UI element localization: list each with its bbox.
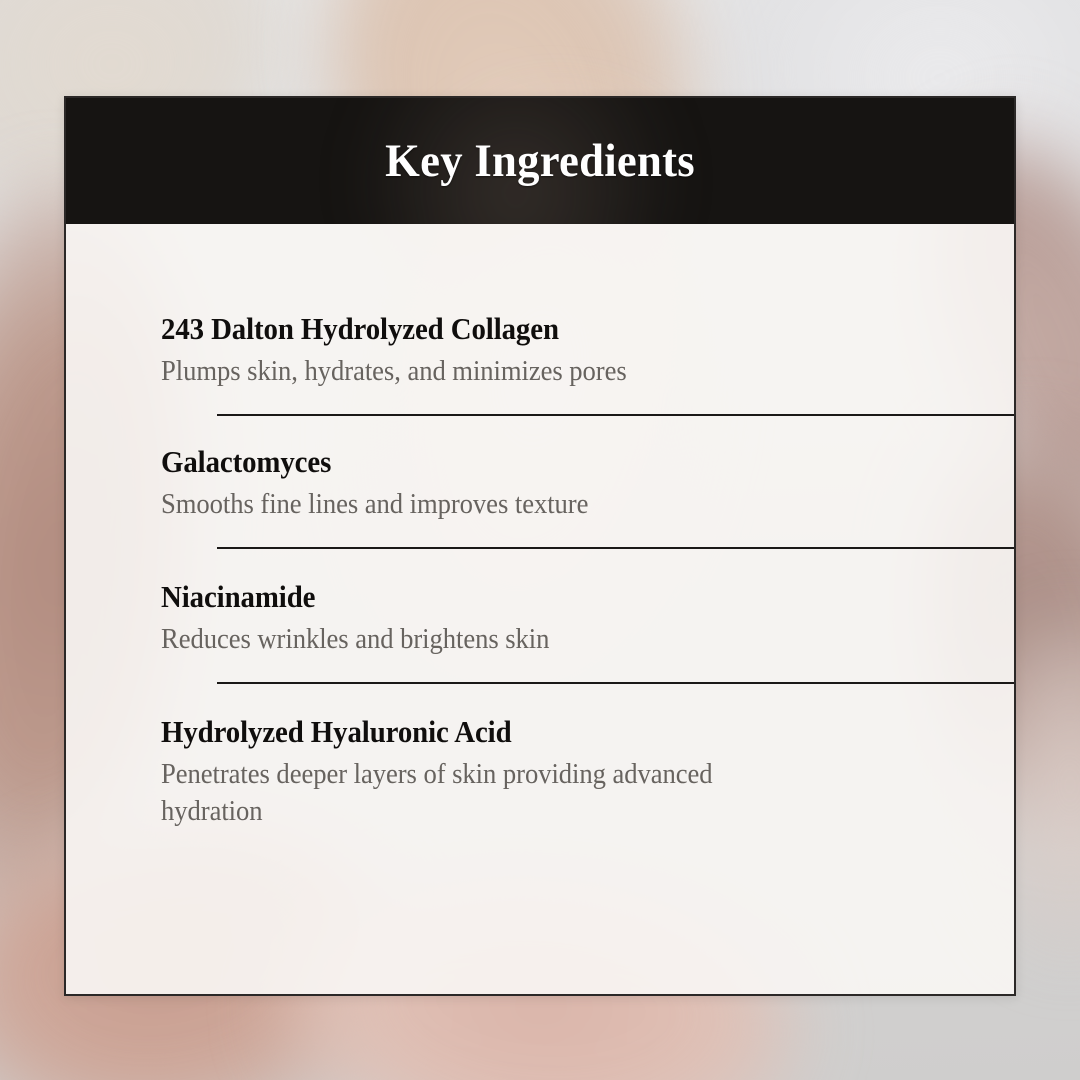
ingredient-list: 243 Dalton Hydrolyzed Collagen Plumps sk… [66,224,1014,830]
ingredient-description: Smooths fine lines and improves texture [161,486,769,523]
ingredient-name: 243 Dalton Hydrolyzed Collagen [161,312,900,347]
list-item: Niacinamide Reduces wrinkles and brighte… [66,549,1014,684]
list-item: Hydrolyzed Hyaluronic Acid Penetrates de… [66,684,1014,830]
list-item: 243 Dalton Hydrolyzed Collagen Plumps sk… [66,224,1014,416]
ingredient-description: Reduces wrinkles and brightens skin [161,621,769,658]
ingredient-description: Plumps skin, hydrates, and minimizes por… [161,353,769,390]
page-title: Key Ingredients [385,138,695,185]
list-item: Galactomyces Smooths fine lines and impr… [66,416,1014,549]
key-ingredients-card: Key Ingredients 243 Dalton Hydrolyzed Co… [64,96,1016,996]
ingredient-name: Niacinamide [161,580,900,615]
ingredient-name: Galactomyces [161,445,900,480]
card-bottom-spacer [66,830,1014,926]
ingredient-name: Hydrolyzed Hyaluronic Acid [161,715,900,750]
ingredient-description: Penetrates deeper layers of skin providi… [161,756,769,830]
card-body: 243 Dalton Hydrolyzed Collagen Plumps sk… [66,224,1014,926]
card-header: Key Ingredients [66,98,1014,224]
page-root: Key Ingredients 243 Dalton Hydrolyzed Co… [0,0,1080,1080]
